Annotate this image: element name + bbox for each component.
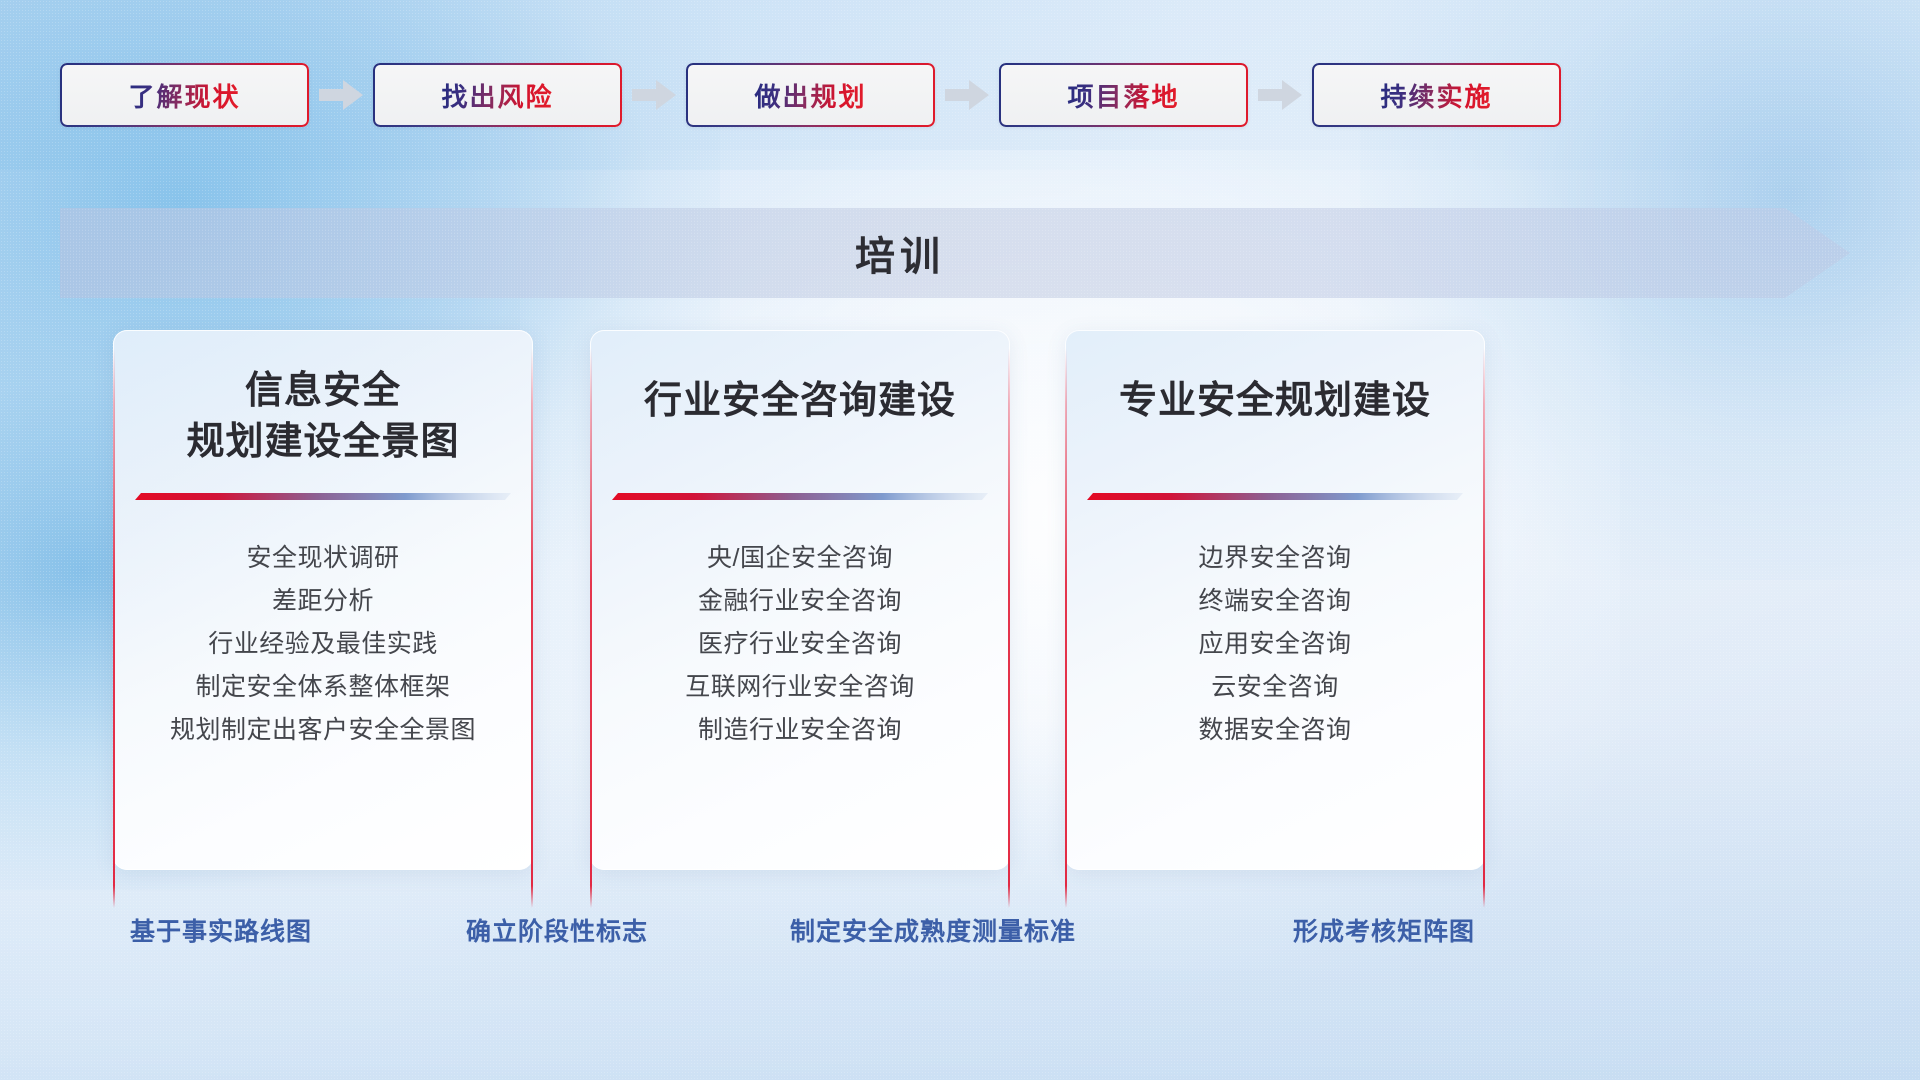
service-card-1-title: 信息安全 规划建设全景图 [113, 366, 533, 468]
outcome-label-1: 基于事实路线图 [130, 912, 312, 948]
list-item: 规划制定出客户安全全景图 [113, 718, 533, 743]
outcome-label-3: 制定安全成熟度测量标准 [790, 912, 1076, 948]
service-card-1-edge-right [531, 348, 533, 908]
service-card-3-edge-right [1483, 348, 1485, 908]
arrow-right-icon [317, 78, 365, 112]
list-item: 终端安全咨询 [1065, 589, 1485, 614]
step-chip-3[interactable]: 做出规划 [686, 63, 935, 127]
service-card-2-divider [612, 491, 988, 502]
arrow-right-icon [943, 78, 991, 112]
list-item: 差距分析 [113, 589, 533, 614]
training-banner-title: 培训 [60, 208, 1850, 298]
step-chip-2-label: 找出风险 [441, 77, 553, 114]
step-chip-1[interactable]: 了解现状 [60, 63, 309, 127]
service-card-3[interactable]: 专业安全规划建设 边界安全咨询 终端安全咨询 应用安全咨询 云安全 [1065, 330, 1485, 870]
service-card-1-edge-left [113, 348, 115, 908]
list-item: 医疗行业安全咨询 [590, 632, 1010, 657]
training-banner: 培训 [60, 208, 1850, 298]
arrow-right-icon [1256, 78, 1304, 112]
service-card-3-list: 边界安全咨询 终端安全咨询 应用安全咨询 云安全咨询 数据安全咨询 [1065, 546, 1485, 761]
list-item: 云安全咨询 [1065, 675, 1485, 700]
list-item: 制造行业安全咨询 [590, 718, 1010, 743]
step-chip-5-label: 持续实施 [1380, 77, 1492, 114]
service-card-2[interactable]: 行业安全咨询建设 央/国企安全咨询 金融行业安全咨询 医疗行业安全咨询 [590, 330, 1010, 870]
list-item: 行业经验及最佳实践 [113, 632, 533, 657]
outcome-label-4: 形成考核矩阵图 [1293, 912, 1475, 948]
step-chip-5[interactable]: 持续实施 [1312, 63, 1561, 127]
step-chip-2[interactable]: 找出风险 [373, 63, 622, 127]
arrow-right-icon [630, 78, 678, 112]
list-item: 金融行业安全咨询 [590, 589, 1010, 614]
list-item: 应用安全咨询 [1065, 632, 1485, 657]
service-card-3-divider [1087, 491, 1463, 502]
step-chip-4[interactable]: 项目落地 [999, 63, 1248, 127]
service-card-1-divider [135, 491, 511, 502]
step-chip-4-label: 项目落地 [1067, 77, 1179, 114]
process-step-row: 了解现状 找出风险 做出规划 项目落地 持续实施 [60, 62, 1860, 128]
service-card-2-edge-left [590, 348, 592, 908]
service-card-3-title: 专业安全规划建设 [1065, 376, 1485, 427]
service-card-1-list: 安全现状调研 差距分析 行业经验及最佳实践 制定安全体系整体框架 规划制定出客户… [113, 546, 533, 761]
list-item: 制定安全体系整体框架 [113, 675, 533, 700]
service-card-row: 信息安全 规划建设全景图 安全现状调研 差距分析 行业经验及最佳实践 [0, 330, 1920, 870]
service-card-3-edge-left [1065, 348, 1067, 908]
service-card-2-title: 行业安全咨询建设 [590, 376, 1010, 427]
service-card-2-edge-right [1008, 348, 1010, 908]
outcome-label-2: 确立阶段性标志 [466, 912, 648, 948]
list-item: 央/国企安全咨询 [590, 546, 1010, 571]
step-chip-1-label: 了解现状 [128, 77, 240, 114]
list-item: 边界安全咨询 [1065, 546, 1485, 571]
service-card-2-list: 央/国企安全咨询 金融行业安全咨询 医疗行业安全咨询 互联网行业安全咨询 制造行… [590, 546, 1010, 761]
step-chip-3-label: 做出规划 [754, 77, 866, 114]
list-item: 数据安全咨询 [1065, 718, 1485, 743]
list-item: 互联网行业安全咨询 [590, 675, 1010, 700]
outcome-label-row: 基于事实路线图 确立阶段性标志 制定安全成熟度测量标准 形成考核矩阵图 [0, 912, 1920, 962]
service-card-1[interactable]: 信息安全 规划建设全景图 安全现状调研 差距分析 行业经验及最佳实践 [113, 330, 533, 870]
list-item: 安全现状调研 [113, 546, 533, 571]
